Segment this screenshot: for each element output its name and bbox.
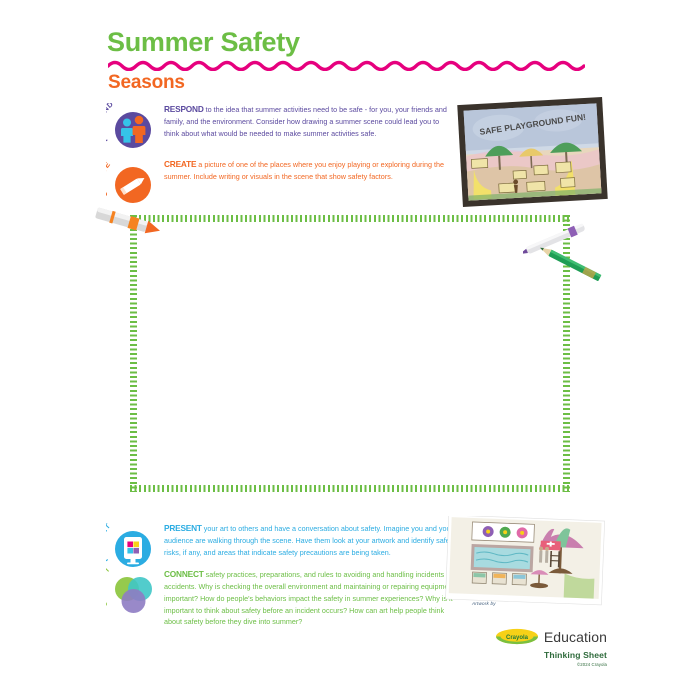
drawing-area[interactable] bbox=[130, 215, 570, 492]
respond-badge: RESPOND bbox=[106, 103, 156, 151]
present-badge-label: PRESENT bbox=[106, 522, 112, 564]
drawing-area-border-top bbox=[130, 215, 570, 222]
respond-keyword: RESPOND bbox=[164, 104, 204, 114]
page-subtitle: Seasons bbox=[108, 72, 607, 94]
education-label: Education bbox=[544, 629, 607, 645]
orange-marker-decoration bbox=[88, 198, 180, 261]
respond-badge-label: RESPOND bbox=[106, 103, 115, 144]
present-text: PRESENT your art to others and have a co… bbox=[164, 522, 456, 559]
artwork-credit-caption: Artwork by bbox=[472, 601, 496, 606]
worksheet-page: Summer Safety Seasons RESPOND bbox=[0, 0, 700, 700]
page-title: Summer Safety bbox=[107, 28, 607, 56]
footer: Crayola Education Thinking Sheet ©2024 C… bbox=[487, 628, 607, 667]
two-people-icon: RESPOND bbox=[106, 103, 156, 151]
present-badge: PRESENT bbox=[106, 522, 156, 570]
wavy-divider bbox=[108, 58, 585, 71]
connect-keyword: CONNECT bbox=[164, 569, 204, 579]
create-text: CREATE a picture of one of the places wh… bbox=[164, 158, 456, 183]
venn-circles-icon: CONNECT bbox=[106, 568, 156, 616]
crayola-wordmark: Crayola bbox=[506, 635, 529, 641]
purple-marker-and-green-pencil-icon bbox=[523, 212, 629, 290]
brand-row: Crayola Education bbox=[487, 628, 607, 645]
svg-text:PRESENT: PRESENT bbox=[106, 522, 112, 564]
connect-text: CONNECT safety practices, preparations, … bbox=[164, 568, 464, 628]
svg-text:RESPOND: RESPOND bbox=[106, 103, 115, 144]
svg-text:CONNECT: CONNECT bbox=[106, 568, 112, 609]
present-body: your art to others and have a conversati… bbox=[164, 524, 455, 557]
easel-icon: PRESENT bbox=[106, 522, 156, 570]
student-artwork-pool-photo bbox=[443, 516, 608, 608]
copyright-label: ©2024 Crayola bbox=[487, 662, 607, 667]
connect-badge-label: CONNECT bbox=[106, 568, 112, 609]
create-keyword: CREATE bbox=[164, 159, 196, 169]
respond-body: to the idea that summer activities need … bbox=[164, 105, 447, 138]
step-present: PRESENT PRESENT your art to others and h… bbox=[106, 522, 456, 570]
orange-marker-icon bbox=[88, 198, 180, 256]
step-connect: CONNECT CONNECT safety practices, prepar… bbox=[106, 568, 464, 628]
present-keyword: PRESENT bbox=[164, 523, 202, 533]
pens-decoration bbox=[523, 212, 629, 295]
crayola-logo-icon: Crayola bbox=[495, 628, 539, 645]
drawing-area-border-bottom bbox=[130, 485, 570, 492]
thinking-sheet-label: Thinking Sheet bbox=[487, 650, 607, 660]
create-body: a picture of one of the places where you… bbox=[164, 160, 444, 181]
step-respond: RESPOND RESPOND to the idea that summer … bbox=[106, 103, 456, 151]
page-header: Summer Safety Seasons bbox=[107, 28, 607, 94]
connect-badge: CONNECT bbox=[106, 568, 156, 616]
connect-body: safety practices, preparations, and rule… bbox=[164, 570, 455, 626]
respond-text: RESPOND to the idea that summer activiti… bbox=[164, 103, 456, 140]
create-badge-label: CREATE bbox=[106, 160, 112, 199]
svg-text:CREATE: CREATE bbox=[106, 160, 112, 199]
student-artwork-playground-photo: SAFE PLAYGROUND FUN! bbox=[455, 96, 610, 208]
